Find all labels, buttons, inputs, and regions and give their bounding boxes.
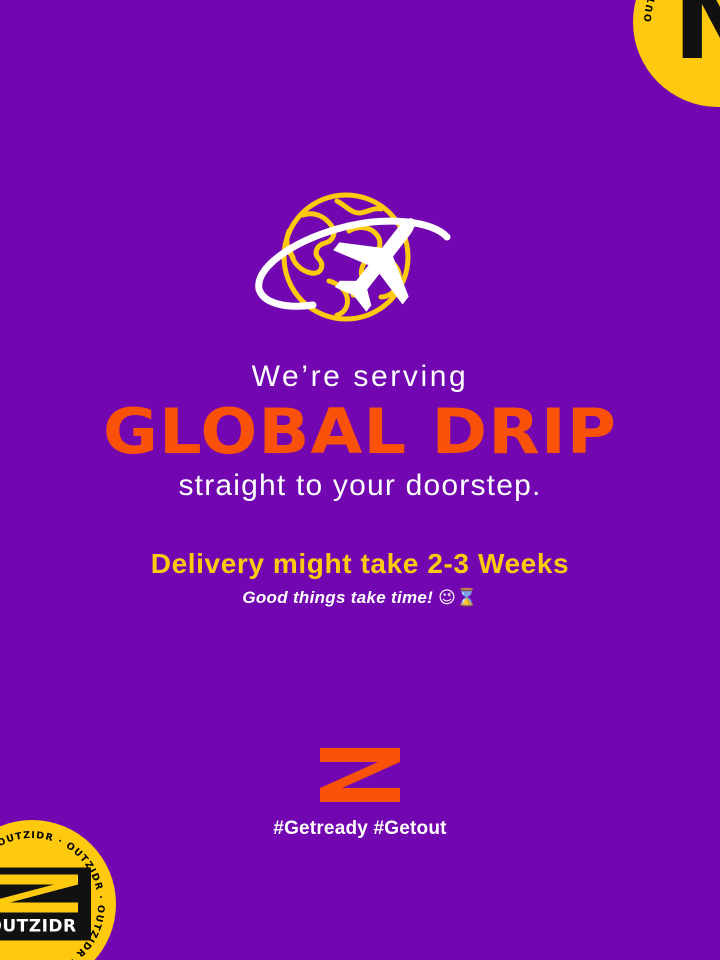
delivery-notice: Delivery might take 2-3 Weeks [0,548,720,580]
kicker-text: We’re serving [0,360,720,393]
badge-z-icon [0,873,80,915]
globe-airplane-icon [241,185,479,335]
badge-glyph-n: N [673,0,720,76]
subline-text: straight to your doorstep. [0,468,720,504]
badge-outzidr-bottom-left: OUTZIDR · OUTZIDR · OUTZIDR · OUTZIDR · … [0,820,116,960]
footer-block: #Getready #Getout [0,748,720,840]
badge-wordmark-text: OUTZIDR [0,917,85,937]
z-monogram-logo [320,748,400,802]
hashtags-text: #Getready #Getout [0,818,720,840]
badge-mark-box: OUTZIDR [0,868,91,941]
badge-wordmark-block: OUTZIDR [0,868,91,941]
delivery-tagline: Good things take time! 😉⌛ [0,588,720,608]
poster-canvas: OUTZIDR · OUTZIDR · OUTZIDR · OUTZIDR · … [0,0,720,960]
badge-outzidr-top-right: OUTZIDR · OUTZIDR · OUTZIDR · OUTZIDR · … [633,0,720,107]
tagline-text: Good things take time! [242,588,433,607]
headline-text: GLOBAL DRIP [0,399,720,464]
tagline-emoji: 😉⌛ [438,588,478,608]
main-copy-block: We’re serving GLOBAL DRIP straight to yo… [0,360,720,504]
